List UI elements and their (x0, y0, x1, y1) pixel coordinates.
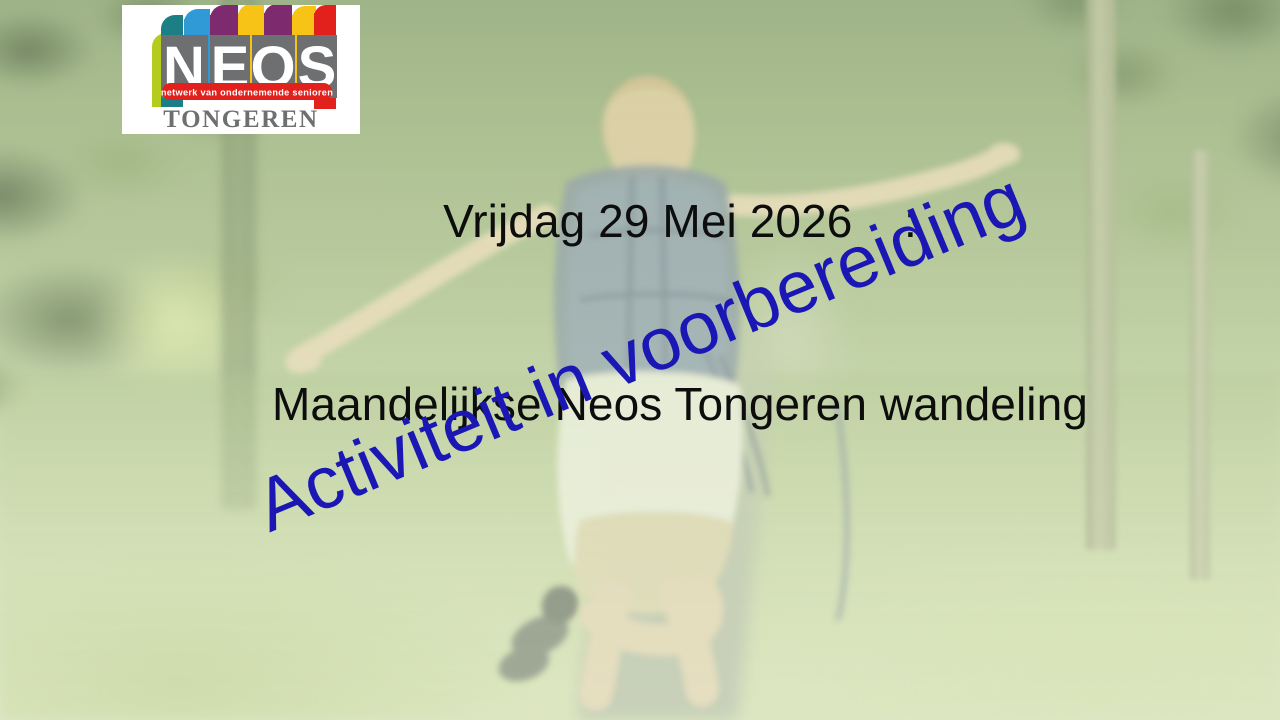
title-line-subject: Maandelijkse Neos Tongeren wandeling (180, 374, 1180, 435)
slide-canvas: N E O S netwerk van ondernemende seniore… (0, 0, 1280, 720)
